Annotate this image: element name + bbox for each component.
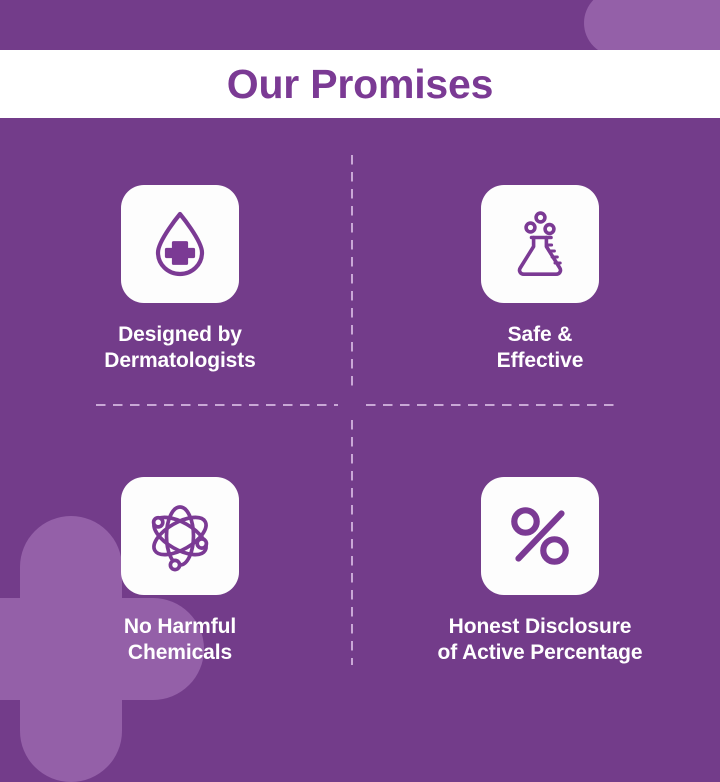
cross-horizontal-bar (584, 0, 720, 56)
percent-icon (505, 501, 575, 571)
promise-item-designed-by-dermatologists: Designed by Dermatologists (0, 118, 360, 419)
promise-item-safe-and-effective: Safe & Effective (360, 118, 720, 419)
promise-item-no-harmful-chemicals: No Harmful Chemicals (0, 419, 360, 720)
promise-item-honest-disclosure: Honest Disclosure of Active Percentage (360, 419, 720, 720)
promise-label: Safe & Effective (497, 322, 584, 375)
promise-grid: Designed by Dermatologists (0, 118, 720, 720)
promise-label: Designed by Dermatologists (104, 322, 255, 375)
icon-tile (481, 477, 599, 595)
flask-bubbles-icon (503, 207, 577, 281)
header-band: Our Promises (0, 50, 720, 118)
promise-label: Honest Disclosure of Active Percentage (438, 614, 643, 667)
atom-icon (144, 500, 216, 572)
icon-tile (121, 477, 239, 595)
icon-tile (121, 185, 239, 303)
promise-label: No Harmful Chemicals (124, 614, 236, 667)
droplet-plus-icon (143, 207, 217, 281)
icon-tile (481, 185, 599, 303)
page-title: Our Promises (227, 64, 493, 105)
